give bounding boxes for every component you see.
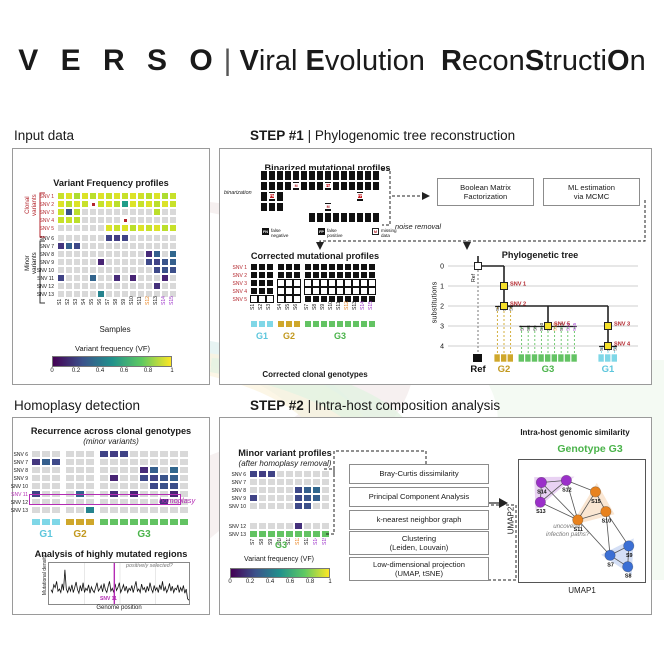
homoplasy-cell	[51, 474, 61, 482]
minor-variant-cell	[303, 478, 312, 486]
genotype-cell	[312, 530, 321, 538]
corrected-sample-label: S6	[293, 304, 299, 310]
heatmap-cell	[145, 274, 153, 282]
heatmap-cell	[169, 282, 177, 290]
heatmap-cell	[65, 290, 73, 298]
sample-column-label: S11	[137, 296, 143, 305]
heatmap-cell	[137, 266, 145, 274]
heatmap-cell	[169, 250, 177, 258]
homoplasy-cell	[129, 450, 139, 458]
homoplasy-cell	[149, 450, 159, 458]
homoplasy-snv-label: SNV 13	[0, 508, 28, 514]
genotype-name: G2	[277, 331, 301, 341]
homoplasy-cell	[75, 474, 85, 482]
heatmap-cell	[161, 234, 169, 242]
binarized-cell	[332, 170, 340, 181]
svg-text:S4: S4	[495, 305, 500, 311]
svg-text:SNV 2: SNV 2	[510, 302, 526, 308]
corrected-snv-label: SNV 3	[220, 281, 247, 287]
corrected-cell	[258, 295, 266, 303]
minor-variant-cell	[285, 478, 294, 486]
homoplasy-cell	[41, 474, 51, 482]
genotype-cell	[293, 320, 301, 328]
homoplasy-cell	[139, 474, 149, 482]
corrected-cell	[312, 287, 320, 295]
corrected-cell	[312, 279, 320, 287]
minor-variant-cell	[294, 522, 303, 530]
homoplasy-cell	[139, 506, 149, 514]
svg-text:Ref: Ref	[471, 273, 477, 282]
corrected-cell	[368, 287, 376, 295]
genotype-cell	[312, 320, 320, 328]
corrected-cell	[285, 263, 293, 271]
homoplasy-cell	[51, 450, 61, 458]
minor-variant-row-label: SNV 9	[218, 496, 246, 502]
homoplasy-cell	[179, 450, 189, 458]
heatmap-cell	[161, 258, 169, 266]
corrected-cell	[266, 295, 274, 303]
homoplasy-cell	[85, 482, 95, 490]
density-y-axis-label: Mutational density	[42, 553, 48, 597]
corrected-sample-label: S13	[352, 301, 358, 310]
homoplasy-snv-label: SNV 11	[0, 492, 28, 498]
minor-variant-cell	[303, 502, 312, 510]
binarized-cell	[276, 191, 284, 202]
heatmap-cell	[97, 192, 105, 200]
heatmap-cell	[153, 192, 161, 200]
heatmap-cell	[121, 208, 129, 216]
heatmap-cell	[105, 274, 113, 282]
svg-text:S7: S7	[607, 562, 614, 568]
heatmap-cell	[129, 224, 137, 232]
colorbar-tick: 0.6	[116, 368, 132, 374]
heatmap-cell	[65, 192, 73, 200]
homoplasy-cell	[129, 458, 139, 466]
minor-variant-cell	[294, 494, 303, 502]
svg-text:SNV 4: SNV 4	[614, 342, 631, 348]
heatmap-cell	[153, 234, 161, 242]
heatmap-cell	[137, 250, 145, 258]
corrected-cell	[336, 287, 344, 295]
homoplasy-cell	[109, 450, 119, 458]
corrected-cell	[360, 271, 368, 279]
homoplasy-cell	[65, 450, 75, 458]
heatmap-cell	[105, 192, 113, 200]
svg-text:S10: S10	[602, 519, 612, 525]
genotype-cell	[119, 518, 129, 526]
heatmap-cell	[65, 208, 73, 216]
corrected-cell	[285, 279, 293, 287]
legend-swatch-fn: FN	[262, 228, 269, 235]
heatmap-cell	[129, 192, 137, 200]
binarized-cell	[284, 202, 292, 213]
heatmap-cell	[105, 258, 113, 266]
genotype-name: G3	[99, 529, 189, 540]
svg-text:0: 0	[440, 264, 444, 271]
heatmap-cell	[161, 200, 169, 208]
homoplasy-cell	[159, 458, 169, 466]
homoplasy-cell	[109, 458, 119, 466]
sample-column-label: S3	[73, 299, 79, 305]
binarized-cell	[340, 181, 348, 192]
heatmap-cell	[65, 224, 73, 232]
heatmap-cell	[137, 282, 145, 290]
minor-variant-cell	[258, 502, 267, 510]
corrected-cell	[312, 263, 320, 271]
minor-variant-cell	[249, 470, 258, 478]
pipeline-box[interactable]: k-nearest neighbor graph	[349, 510, 489, 530]
homoplasy-cell	[119, 506, 129, 514]
binarized-cell	[276, 170, 284, 181]
binarized-cell	[260, 170, 268, 181]
binarized-cell	[364, 181, 372, 192]
genotype-cell	[258, 320, 266, 328]
homoplasy-cell	[139, 482, 149, 490]
minor-variant-cell	[276, 522, 285, 530]
corrected-sample-label: S8	[312, 304, 318, 310]
homoplasy-cell	[109, 482, 119, 490]
binarized-cell	[284, 181, 292, 192]
heatmap-cell	[57, 224, 65, 232]
homoplasy-cell	[41, 458, 51, 466]
density-marker-label: SNV 11	[100, 596, 117, 602]
missing-data-marker: M	[293, 183, 299, 189]
colorbar-tick: 0.4	[262, 579, 278, 585]
heatmap-cell	[105, 250, 113, 258]
input-heatmap-title: Variant Frequency profiles	[12, 178, 210, 188]
genotype-cell	[266, 320, 274, 328]
homoplasy-cell	[179, 482, 189, 490]
minor-variant-cell	[303, 486, 312, 494]
heatmap-cell	[121, 266, 129, 274]
binarized-cell	[260, 181, 268, 192]
minor-variants-group-label: Minor variants	[24, 246, 38, 280]
minor-variant-cell	[285, 470, 294, 478]
corrected-cell	[352, 287, 360, 295]
minor-variant-cell	[294, 470, 303, 478]
heatmap-cell	[121, 250, 129, 258]
homoplasy-snv-label: SNV 6	[0, 452, 28, 458]
minor-variant-cell	[294, 486, 303, 494]
legend-label-fn: falsenegative	[271, 228, 288, 239]
minor-variant-row-label: SNV 6	[218, 472, 246, 478]
corrected-sample-label: S12	[344, 301, 350, 310]
genotype-cell	[336, 320, 344, 328]
heatmap-cell	[65, 250, 73, 258]
sample-column-label: S13	[153, 296, 159, 305]
corrected-cell	[368, 279, 376, 287]
heatmap-cell	[81, 274, 89, 282]
binarized-cell	[284, 212, 292, 223]
binarization-label: binarization	[224, 190, 252, 196]
heatmap-cell	[145, 192, 153, 200]
heatmap-cell	[113, 274, 121, 282]
heatmap-cell	[81, 242, 89, 250]
homoplasy-cell	[129, 466, 139, 474]
genotype-name: G2	[65, 529, 95, 540]
minor-variant-cell	[258, 470, 267, 478]
heatmap-cell	[161, 274, 169, 282]
homoplasy-cell	[41, 506, 51, 514]
corrected-cell	[304, 263, 312, 271]
homoplasy-cell	[179, 466, 189, 474]
colorbar-tick: 0.4	[92, 368, 108, 374]
minor-variant-cell	[312, 522, 321, 530]
homoplasy-cell	[149, 506, 159, 514]
genotype-name: G1	[250, 331, 274, 341]
corrected-cell	[312, 271, 320, 279]
heatmap-cell	[81, 200, 89, 208]
heatmap-cell	[57, 250, 65, 258]
heatmap-cell	[81, 258, 89, 266]
heatmap-cell	[57, 258, 65, 266]
corrected-cell	[258, 263, 266, 271]
binarized-cell	[356, 170, 364, 181]
heatmap-cell	[73, 290, 81, 298]
corrected-cell	[336, 279, 344, 287]
heatmap-cell	[57, 216, 65, 224]
homoplasy-cell	[31, 482, 41, 490]
svg-text:G1: G1	[602, 364, 615, 375]
homoplasy-cell	[169, 474, 179, 482]
homoplasy-cell	[51, 458, 61, 466]
svg-text:S13: S13	[536, 509, 546, 515]
missing-data-marker	[123, 218, 128, 223]
density-annotation: positively selected?	[126, 563, 173, 569]
heatmap-cell	[81, 192, 89, 200]
heatmap-cell	[169, 258, 177, 266]
homoplasy-cell	[119, 458, 129, 466]
corrected-sample-label: S14	[360, 301, 366, 310]
homoplasy-cell	[119, 466, 129, 474]
heatmap-cell	[129, 208, 137, 216]
heatmap-cell	[57, 208, 65, 216]
heatmap-cell	[161, 224, 169, 232]
minor-profiles-bracket	[323, 468, 337, 536]
binarized-cell	[348, 181, 356, 192]
heatmap-cell	[113, 208, 121, 216]
heatmap-cell	[169, 266, 177, 274]
minor-variant-cell	[303, 470, 312, 478]
binarized-cell	[292, 202, 300, 213]
genotype-cell	[99, 518, 109, 526]
corrected-cell	[258, 279, 266, 287]
heatmap-cell	[145, 216, 153, 224]
homoplasy-cell	[31, 450, 41, 458]
minor-variant-row-label: SNV 13	[218, 532, 246, 538]
heatmap-cell	[153, 208, 161, 216]
minor-variant-cell	[267, 486, 276, 494]
corrected-cell	[293, 287, 301, 295]
minor-variant-cell	[276, 486, 285, 494]
corrected-cell	[320, 263, 328, 271]
binarized-cell	[276, 202, 284, 213]
binarized-cell	[276, 181, 284, 192]
heatmap-cell	[97, 266, 105, 274]
heatmap-cell	[73, 216, 81, 224]
genotype-cell	[139, 518, 149, 526]
binarized-cell	[268, 212, 276, 223]
corrected-cell	[293, 263, 301, 271]
corrected-cell	[250, 271, 258, 279]
heatmap-cell	[97, 290, 105, 298]
heatmap-cell	[57, 200, 65, 208]
umap-title: Intra-host genomic similarity	[500, 428, 650, 437]
homoplasy-cell	[65, 506, 75, 514]
homoplasy-cell	[85, 506, 95, 514]
corrected-cell	[293, 271, 301, 279]
binarized-cell	[316, 181, 324, 192]
minor-variant-cell	[258, 486, 267, 494]
colorbar-tick: 0.8	[302, 579, 318, 585]
homoplasy-cell	[41, 482, 51, 490]
heatmap-cell	[89, 208, 97, 216]
corrected-title: Corrected mutational profiles	[225, 251, 405, 261]
homoplasy-cell	[75, 506, 85, 514]
corrected-cell	[277, 287, 285, 295]
title-expansion: Viral Evolution ReconStructiOn	[239, 45, 645, 78]
umap-plot-area: S14S12S13S15S10S11S7S9S8	[518, 459, 646, 583]
genotype-cell	[344, 320, 352, 328]
heatmap-cell	[113, 192, 121, 200]
corrected-sample-label: S10	[328, 301, 334, 310]
pipeline-box[interactable]: Bray-Curtis dissimilarity	[349, 464, 489, 484]
pipeline-box[interactable]: Principal Component Analysis	[349, 487, 489, 507]
svg-text:S1: S1	[599, 345, 604, 351]
heatmap-cell	[73, 282, 81, 290]
corrected-cell	[312, 295, 320, 303]
genotype-cell	[303, 530, 312, 538]
heatmap-cell	[97, 234, 105, 242]
genotype-name: G1	[31, 529, 61, 540]
pipeline-box[interactable]: Low-dimensional projection(UMAP, tSNE)	[349, 557, 489, 581]
binarized-cell	[300, 181, 308, 192]
genotype-cell	[360, 320, 368, 328]
heatmap-cell	[97, 208, 105, 216]
corrected-cell	[320, 295, 328, 303]
false-negative-marker: FN	[325, 183, 331, 189]
minor-variant-cell	[258, 522, 267, 530]
svg-text:S8: S8	[625, 574, 632, 580]
colorbar-tick: 0.6	[282, 579, 298, 585]
minor-variant-cell	[312, 486, 321, 494]
heatmap-cell	[105, 290, 113, 298]
sample-column-label: S4	[81, 299, 87, 305]
binarized-cell	[356, 181, 364, 192]
heatmap-cell	[121, 282, 129, 290]
homoplasy-cell	[51, 482, 61, 490]
sample-column-label: S9	[121, 299, 127, 305]
homoplasy-cell	[65, 466, 75, 474]
corrected-cell	[336, 271, 344, 279]
svg-text:Ref: Ref	[470, 364, 486, 375]
heatmap-cell	[153, 274, 161, 282]
minor-variant-cell	[285, 486, 294, 494]
homoplasy-cell	[179, 506, 189, 514]
heatmap-cell	[145, 282, 153, 290]
homoplasy-cell	[31, 466, 41, 474]
homoplasy-cell	[51, 506, 61, 514]
corrected-cell	[360, 287, 368, 295]
minor-variant-cell	[249, 486, 258, 494]
minor-variant-cell	[276, 502, 285, 510]
homoplasy-cell	[139, 466, 149, 474]
heatmap-cell	[161, 208, 169, 216]
heatmap-cell	[169, 224, 177, 232]
pipeline-box[interactable]: Clustering(Leiden, Louvain)	[349, 531, 489, 555]
heatmap-cell	[89, 224, 97, 232]
binarized-cell	[372, 181, 380, 192]
minor-variants-bracket	[38, 240, 46, 304]
corrected-cell	[304, 295, 312, 303]
colorbar-tick: 0.2	[242, 579, 258, 585]
genotype-cell	[159, 518, 169, 526]
genotype-cell	[258, 530, 267, 538]
heatmap-cell	[145, 234, 153, 242]
homoplasy-snv-label: SNV 7	[0, 460, 28, 466]
homoplasy-cell	[99, 450, 109, 458]
corrected-cell	[360, 279, 368, 287]
homoplasy-cell	[119, 482, 129, 490]
minor-variant-genotype-name: G3	[246, 540, 316, 550]
title-divider: |	[224, 44, 232, 78]
homoplasy-cell	[159, 450, 169, 458]
homoplasy-callout-label: homoplasy	[159, 496, 195, 505]
homoplasy-snv-label: SNV 9	[0, 476, 28, 482]
heatmap-cell	[97, 200, 105, 208]
heatmap-cell	[73, 234, 81, 242]
heatmap-cell	[65, 242, 73, 250]
heatmap-cell	[73, 250, 81, 258]
binarized-cell	[292, 170, 300, 181]
heatmap-cell	[57, 192, 65, 200]
heatmap-cell	[73, 224, 81, 232]
corrected-cell	[344, 263, 352, 271]
genotype-cell	[368, 320, 376, 328]
minor-variant-cell	[267, 494, 276, 502]
heatmap-cell	[65, 258, 73, 266]
heatmap-cell	[145, 258, 153, 266]
heatmap-cell	[129, 282, 137, 290]
minor-variant-cell	[267, 470, 276, 478]
corrected-cell	[277, 279, 285, 287]
genotype-cell	[51, 518, 61, 526]
minor-variant-cell	[285, 522, 294, 530]
svg-text:2: 2	[440, 304, 444, 311]
binarized-cell	[268, 170, 276, 181]
svg-text:SNV 1: SNV 1	[510, 282, 526, 288]
heatmap-cell	[105, 282, 113, 290]
minor-variant-cell	[267, 522, 276, 530]
homoplasy-cell	[65, 474, 75, 482]
minor-variant-cell	[276, 494, 285, 502]
binarized-cell	[308, 170, 316, 181]
heatmap-cell	[65, 282, 73, 290]
colorbar-tick: 0.2	[68, 368, 84, 374]
binarized-cell	[284, 170, 292, 181]
corrected-cell	[293, 279, 301, 287]
heatmap-cell	[57, 234, 65, 242]
page-title: V E R S O | Viral Evolution ReconStructi…	[0, 36, 664, 86]
heatmap-cell	[153, 224, 161, 232]
heatmap-cell	[113, 258, 121, 266]
corrected-sample-label: S2	[258, 304, 264, 310]
heatmap-cell	[81, 290, 89, 298]
heatmap-cell	[161, 192, 169, 200]
homoplasy-cell	[65, 458, 75, 466]
heatmap-cell	[81, 266, 89, 274]
corrected-cell	[285, 295, 293, 303]
